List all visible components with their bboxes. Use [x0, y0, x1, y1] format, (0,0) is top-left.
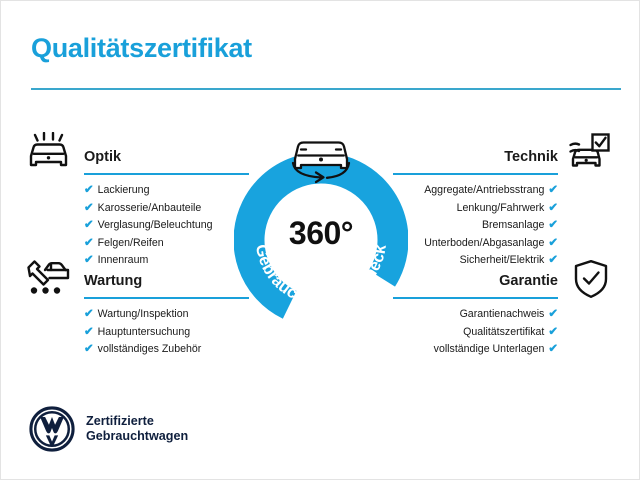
- check-icon: ✔: [84, 185, 94, 197]
- checklist-item-label: Karosserie/Anbauteile: [98, 200, 202, 218]
- check-icon: ✔: [84, 309, 94, 321]
- footer-brand: Zertifizierte Gebrauchtwagen: [29, 406, 188, 452]
- section-header-technik: Technik: [393, 149, 558, 175]
- check-icon: ✔: [84, 220, 94, 232]
- section-technik: TechnikAggregate/Antriebsstrang✔Lenkung/…: [393, 149, 558, 270]
- checklist-item-label: Garantienachweis: [460, 306, 545, 324]
- checklist-item: vollständige Unterlagen✔: [393, 341, 558, 359]
- check-icon: ✔: [548, 220, 558, 232]
- checklist-item-label: Sicherheit/Elektrik: [460, 252, 545, 270]
- checklist: ✔Lackierung✔Karosserie/Anbauteile✔Vergla…: [84, 182, 249, 270]
- checklist-item: ✔Innenraum: [84, 252, 249, 270]
- check-icon: ✔: [548, 344, 558, 356]
- checklist-item-label: Hauptuntersuchung: [98, 324, 190, 342]
- checklist: Aggregate/Antriebsstrang✔Lenkung/Fahrwer…: [393, 182, 558, 270]
- check-icon: ✔: [548, 203, 558, 215]
- checklist: ✔Wartung/Inspektion✔Hauptuntersuchung✔vo…: [84, 306, 249, 359]
- shield-check-icon: [573, 259, 609, 304]
- check-icon: ✔: [84, 255, 94, 267]
- checklist-item: Lenkung/Fahrwerk✔: [393, 200, 558, 218]
- checklist-item-label: Lackierung: [98, 182, 150, 200]
- section-title: Technik: [393, 149, 558, 166]
- section-title: Wartung: [84, 273, 249, 290]
- checklist-item: Bremsanlage✔: [393, 217, 558, 235]
- checklist-item: ✔Felgen/Reifen: [84, 235, 249, 253]
- badge-center-label: 360°: [234, 215, 408, 252]
- checklist-item-label: Bremsanlage: [482, 217, 544, 235]
- section-underline: [84, 297, 249, 299]
- check-icon: ✔: [84, 203, 94, 215]
- section-garantie: GarantieGarantienachweis✔Qualitätszertif…: [393, 273, 558, 359]
- checklist-item-label: Wartung/Inspektion: [98, 306, 189, 324]
- check-icon: ✔: [84, 327, 94, 339]
- section-wartung: Wartung✔Wartung/Inspektion✔Hauptuntersuc…: [84, 273, 249, 359]
- page-title: Qualitätszertifikat: [31, 33, 252, 64]
- section-header-optik: Optik: [84, 149, 249, 175]
- check-icon: ✔: [548, 255, 558, 267]
- section-underline: [393, 173, 558, 175]
- checklist-item: ✔Hauptuntersuchung: [84, 324, 249, 342]
- section-underline: [84, 173, 249, 175]
- checklist-item: Unterboden/Abgasanlage✔: [393, 235, 558, 253]
- section-title: Garantie: [393, 273, 558, 290]
- checklist-item-label: Unterboden/Abgasanlage: [424, 235, 544, 253]
- check-icon: ✔: [548, 327, 558, 339]
- certificate-page: Qualitätszertifikat: [0, 0, 640, 480]
- checklist-item: ✔Karosserie/Anbauteile: [84, 200, 249, 218]
- section-header-garantie: Garantie: [393, 273, 558, 299]
- checklist-item: Aggregate/Antriebsstrang✔: [393, 182, 558, 200]
- footer-line-2: Gebrauchtwagen: [86, 429, 188, 445]
- checklist-item-label: Felgen/Reifen: [98, 235, 164, 253]
- car-hood-checkbox-icon: [567, 132, 611, 175]
- section-underline: [393, 297, 558, 299]
- section-title: Optik: [84, 149, 249, 166]
- wrench-car-service-icon: [25, 258, 71, 301]
- check-icon: ✔: [84, 344, 94, 356]
- checklist-item: ✔Wartung/Inspektion: [84, 306, 249, 324]
- car-front-shine-icon: [27, 132, 69, 175]
- title-divider: [31, 88, 621, 90]
- checklist-item-label: Aggregate/Antriebsstrang: [424, 182, 544, 200]
- checklist-item-label: Lenkung/Fahrwerk: [457, 200, 545, 218]
- section-header-wartung: Wartung: [84, 273, 249, 299]
- checklist-item-label: Innenraum: [98, 252, 149, 270]
- checklist-item: Garantienachweis✔: [393, 306, 558, 324]
- checklist-item-label: Verglasung/Beleuchtung: [98, 217, 213, 235]
- check-icon: ✔: [548, 238, 558, 250]
- checklist-item: Qualitätszertifikat✔: [393, 324, 558, 342]
- checklist-item: ✔Verglasung/Beleuchtung: [84, 217, 249, 235]
- footer-text: Zertifizierte Gebrauchtwagen: [86, 414, 188, 445]
- checklist-item-label: vollständige Unterlagen: [434, 341, 545, 359]
- footer-line-1: Zertifizierte: [86, 414, 188, 430]
- check-icon: ✔: [548, 185, 558, 197]
- car-rotation-icon: [279, 127, 363, 185]
- checklist-item-label: vollständiges Zubehör: [98, 341, 202, 359]
- checklist-item: ✔vollständiges Zubehör: [84, 341, 249, 359]
- checklist-item-label: Qualitätszertifikat: [463, 324, 544, 342]
- section-optik: Optik✔Lackierung✔Karosserie/Anbauteile✔V…: [84, 149, 249, 270]
- checklist-item: ✔Lackierung: [84, 182, 249, 200]
- check-icon: ✔: [548, 309, 558, 321]
- check-icon: ✔: [84, 238, 94, 250]
- checklist: Garantienachweis✔Qualitätszertifikat✔vol…: [393, 306, 558, 359]
- volkswagen-logo: [29, 406, 75, 452]
- checklist-item: Sicherheit/Elektrik✔: [393, 252, 558, 270]
